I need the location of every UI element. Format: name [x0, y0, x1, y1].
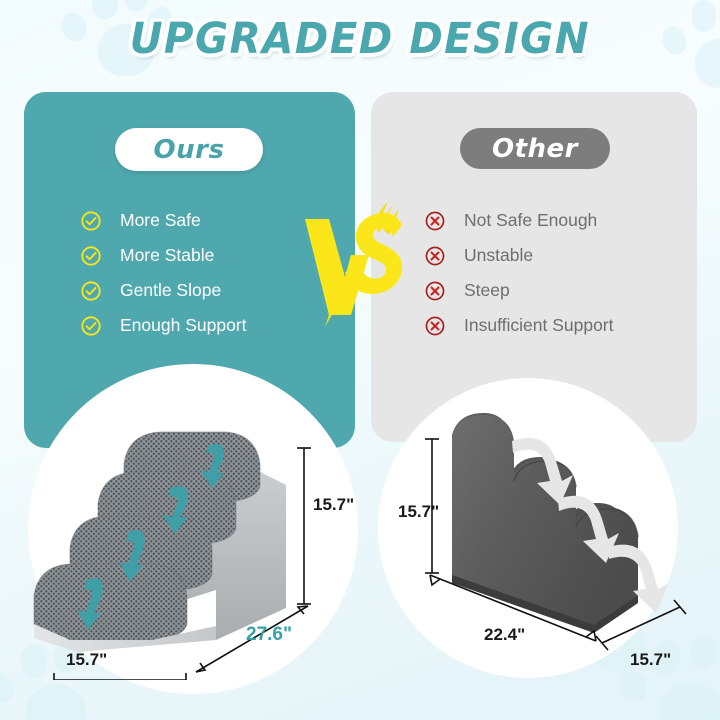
- list-item-label: Enough Support: [120, 317, 247, 335]
- list-item: Unstable: [424, 238, 694, 273]
- versus-badge: [303, 203, 413, 328]
- cross-circle-icon: [424, 315, 446, 337]
- list-item: Insufficient Support: [424, 308, 694, 343]
- list-item: Enough Support: [80, 308, 340, 343]
- list-item: Gentle Slope: [80, 273, 340, 308]
- list-item: Not Safe Enough: [424, 203, 694, 238]
- list-item-label: Unstable: [464, 247, 533, 265]
- page-title: UPGRADED DESIGN: [130, 14, 590, 64]
- feature-list-other: Not Safe Enough Unstable Steep Insuffici…: [424, 203, 694, 343]
- badge-ours-label: Ours: [154, 135, 225, 165]
- page-title-container: UPGRADED DESIGN: [0, 14, 720, 64]
- feature-list-ours: More Safe More Stable Gentle Slope Enoug…: [80, 203, 340, 343]
- dimension-right-height: 15.7": [398, 502, 439, 522]
- dimension-right-width: 15.7": [630, 650, 671, 670]
- dimension-right-depth: 22.4": [484, 625, 525, 645]
- dimension-left-width: 15.7": [66, 650, 107, 670]
- dimension-left-depth: 27.6": [246, 624, 292, 646]
- cross-circle-icon: [424, 280, 446, 302]
- check-circle-icon: [80, 210, 102, 232]
- cross-circle-icon: [424, 245, 446, 267]
- badge-other: Other: [460, 128, 610, 169]
- list-item-label: Insufficient Support: [464, 317, 614, 335]
- cross-circle-icon: [424, 210, 446, 232]
- badge-other-label: Other: [492, 134, 578, 164]
- list-item-label: Gentle Slope: [120, 282, 221, 300]
- badge-ours: Ours: [115, 128, 263, 171]
- list-item: More Safe: [80, 203, 340, 238]
- dimension-lines-left: [20, 390, 350, 680]
- check-circle-icon: [80, 245, 102, 267]
- dimension-left-height: 15.7": [313, 495, 354, 515]
- list-item-label: More Safe: [120, 212, 201, 230]
- list-item-label: More Stable: [120, 247, 214, 265]
- dimension-lines-right: [380, 395, 690, 675]
- check-circle-icon: [80, 315, 102, 337]
- list-item-label: Not Safe Enough: [464, 212, 597, 230]
- infographic-canvas: UPGRADED DESIGN Ours More Safe More Stab…: [0, 0, 720, 720]
- list-item: Steep: [424, 273, 694, 308]
- list-item-label: Steep: [464, 282, 510, 300]
- check-circle-icon: [80, 280, 102, 302]
- list-item: More Stable: [80, 238, 340, 273]
